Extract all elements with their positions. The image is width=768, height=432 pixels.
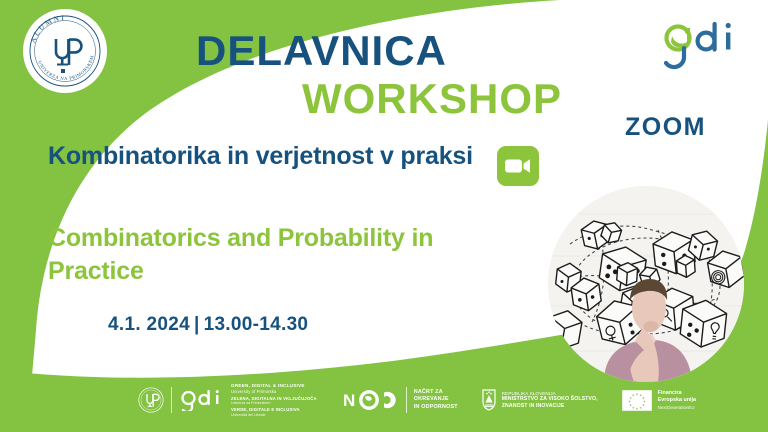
headline-block: DELAVNICA WORKSHOP [196,30,636,121]
noo-line-3: IN ODPORNOST [414,404,458,411]
workshop-title-slovene: Kombinatorika in verjetnost v praksi [48,140,478,173]
headline-workshop: WORKSHOP [196,77,636,121]
workshop-poster: ALUMNI UNIVERZA NA PRIMORSKEM [0,0,768,432]
noo-logo: N NAČRT ZA OKREVANJE IN ODPORNOST [343,380,458,420]
footer-logo-bar: GREEN, DIGITAL & INCLUSIVE University of… [0,378,768,422]
gdi-footer-logo: GREEN, DIGITAL & INCLUSIVE University of… [179,380,317,420]
workshop-time: 13.00-14.30 [204,314,309,335]
datetime-separator: | [190,314,204,335]
dice-network-thinking-man-photo [548,186,744,382]
footer-divider-1 [171,387,172,413]
workshop-title-english: Combinatorics and Probability in Practic… [48,222,498,289]
eu-line-1: Financira [658,390,696,397]
up-alumni-seal: ALUMNI UNIVERZA NA PRIMORSKEM [22,8,108,94]
eu-line-2: Evropska unija [658,397,696,404]
slovenia-coat-of-arms-icon [482,389,496,411]
gdi-university-it: Università del Litorale [231,413,317,417]
headline-delavnica: DELAVNICA [196,30,636,72]
gdi-logo [660,18,746,74]
ministry-line-3: ZNANOST IN INOVACIJE [502,403,598,410]
gdi-university-en: University of Primorska [231,389,317,394]
workshop-date: 4.1. 2024 [108,314,190,335]
noo-line-2: OKREVANJE [414,396,458,403]
eu-funding-logo: Financira Evropska unija NextGenerationE… [622,380,696,420]
ministry-logo: REPUBLIKA SLOVENIJA MINISTRSTVO ZA VISOK… [482,380,598,420]
workshop-datetime: 4.1. 2024|13.00-14.30 [108,314,308,336]
svg-text:N: N [343,391,356,410]
video-camera-icon [497,146,539,186]
up-seal-footer [138,380,164,420]
gdi-university-sl: Univerza na Primorskem [231,401,317,405]
eu-line-3: NextGenerationEU [658,405,696,411]
zoom-platform-label: ZOOM [625,113,706,142]
footer-divider-2 [406,387,407,413]
ministry-line-2: MINISTRSTVO ZA VISOKO ŠOLSTVO, [502,396,598,403]
eu-flag-icon [622,390,652,411]
noo-line-1: NAČRT ZA [414,389,458,396]
